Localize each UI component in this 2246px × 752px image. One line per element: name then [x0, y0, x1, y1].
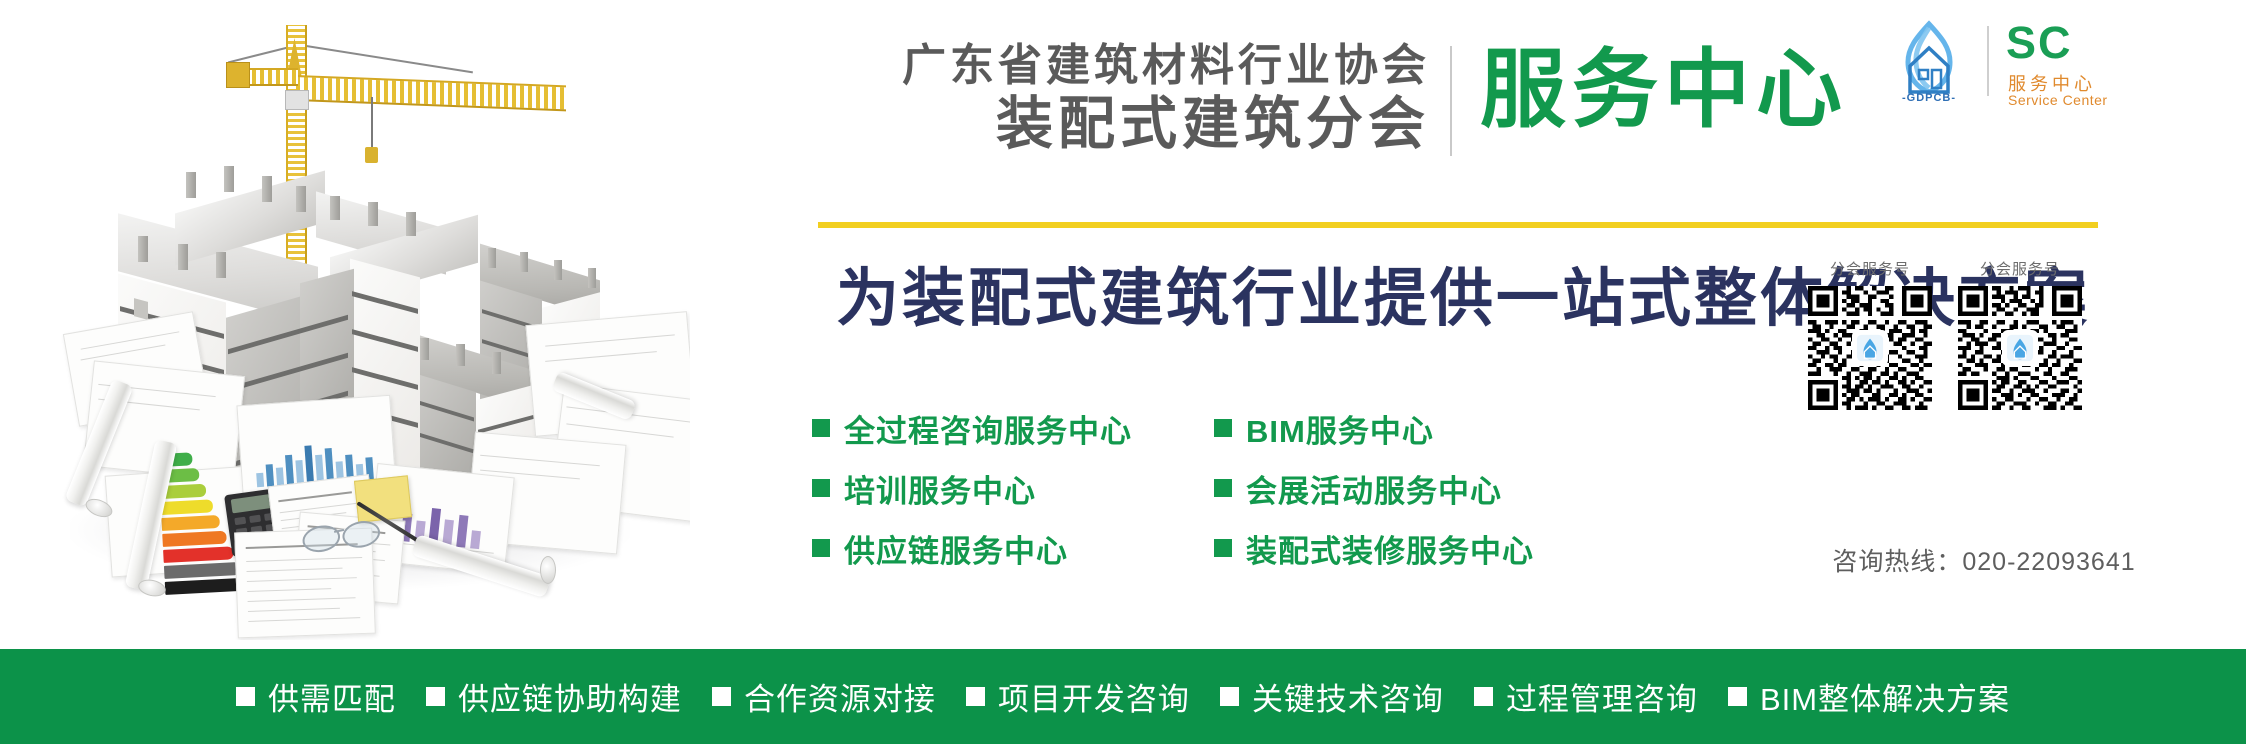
service-center-label: 装配式装修服务中心	[1246, 526, 1534, 571]
service-center-item[interactable]: 供应链服务中心	[812, 518, 1132, 578]
bottom-bar-item[interactable]: 项目开发咨询	[966, 674, 1190, 719]
service-center-label: 培训服务中心	[844, 466, 1036, 511]
square-bullet-icon	[812, 479, 830, 497]
service-center-item[interactable]: 会展活动服务中心	[1214, 458, 1534, 518]
service-center-label: 全过程咨询服务中心	[844, 406, 1132, 451]
bottom-bar-item[interactable]: 过程管理咨询	[1474, 674, 1698, 719]
qr-code-image-2[interactable]	[1958, 286, 2082, 410]
bottom-bar-item[interactable]: 关键技术咨询	[1220, 674, 1444, 719]
square-bullet-icon	[966, 687, 985, 706]
bottom-bar-item[interactable]: BIM整体解决方案	[1728, 674, 2010, 719]
bottom-bar-label: 合作资源对接	[744, 674, 936, 719]
service-center-column-left: 全过程咨询服务中心 培训服务中心 供应链服务中心	[812, 398, 1132, 578]
association-name: 广东省建筑材料行业协会	[820, 40, 1430, 92]
banner-content: 广东省建筑材料行业协会 装配式建筑分会 服务中心 为装配式建筑行业提供一站式整体…	[690, 0, 2246, 640]
hotline-text: 咨询热线：020-22093641	[1804, 542, 2164, 578]
crane-cabin	[285, 90, 309, 110]
service-center-item[interactable]: BIM服务中心	[1214, 398, 1534, 458]
logo-english-text: Service Center	[2008, 92, 2108, 108]
yellow-divider-rule	[818, 222, 2098, 228]
service-center-heading: 服务中心	[1480, 40, 1848, 141]
bottom-bar-item[interactable]: 合作资源对接	[712, 674, 936, 719]
crane-jib	[296, 75, 566, 111]
square-bullet-icon	[1220, 687, 1239, 706]
qr-code-block: 分会服务号	[1808, 258, 2148, 410]
service-center-item[interactable]: 培训服务中心	[812, 458, 1132, 518]
bottom-bar-label: 关键技术咨询	[1252, 674, 1444, 719]
association-title-block: 广东省建筑材料行业协会 装配式建筑分会	[820, 40, 1430, 157]
qr-embedded-logo-icon	[2002, 330, 2038, 366]
service-center-item[interactable]: 全过程咨询服务中心	[812, 398, 1132, 458]
service-center-label: 供应链服务中心	[844, 526, 1068, 571]
square-bullet-icon	[812, 539, 830, 557]
crane-counterweight	[226, 62, 250, 88]
square-bullet-icon	[236, 687, 255, 706]
bottom-bar-label: 项目开发咨询	[998, 674, 1190, 719]
promotional-banner: 广东省建筑材料行业协会 装配式建筑分会 服务中心 为装配式建筑行业提供一站式整体…	[0, 0, 2246, 752]
bottom-bar-item[interactable]: 供需匹配	[236, 674, 396, 719]
logo-divider	[1987, 26, 1989, 96]
square-bullet-icon	[712, 687, 731, 706]
qr-code-caption: 分会服务号	[1808, 258, 1932, 279]
square-bullet-icon	[812, 419, 830, 437]
bottom-bar-label: BIM整体解决方案	[1760, 674, 2010, 719]
square-bullet-icon	[1474, 687, 1493, 706]
brand-logo[interactable]: -GDPCB- SC 服务中心 Service Center	[1886, 14, 2146, 114]
qr-code-entry[interactable]: 分会服务号	[1958, 258, 2082, 410]
association-branch: 装配式建筑分会	[820, 92, 1430, 157]
square-bullet-icon	[426, 687, 445, 706]
qr-code-image-1[interactable]	[1808, 286, 1932, 410]
hero-construction-illustration	[0, 0, 690, 640]
bottom-bar-item[interactable]: 供应链协助构建	[426, 674, 682, 719]
square-bullet-icon	[1214, 539, 1232, 557]
square-bullet-icon	[1214, 419, 1232, 437]
service-center-item[interactable]: 装配式装修服务中心	[1214, 518, 1534, 578]
service-center-column-right: BIM服务中心 会展活动服务中心 装配式装修服务中心	[1214, 398, 1534, 578]
qr-code-caption: 分会服务号	[1958, 258, 2082, 279]
service-center-label: 会展活动服务中心	[1246, 466, 1502, 511]
logo-abbreviation: -GDPCB-	[1886, 92, 1972, 104]
title-divider	[1450, 46, 1452, 156]
bottom-bar-label: 供应链协助构建	[458, 674, 682, 719]
crane-hook	[365, 147, 378, 163]
qr-code-entry[interactable]: 分会服务号	[1808, 258, 1932, 410]
crane-tie-line	[300, 44, 473, 73]
bottom-bar-label: 过程管理咨询	[1506, 674, 1698, 719]
qr-embedded-logo-icon	[1852, 330, 1888, 366]
blueprint-roll-end	[540, 556, 556, 584]
logo-sc-text: SC	[2006, 20, 2073, 65]
bottom-bar-label: 供需匹配	[268, 674, 396, 719]
square-bullet-icon	[1728, 687, 1747, 706]
crane-cable	[371, 97, 373, 149]
bottom-services-bar: 供需匹配 供应链协助构建 合作资源对接 项目开发咨询 关键技术咨询 过程管理咨询	[0, 649, 2246, 744]
square-bullet-icon	[1214, 479, 1232, 497]
service-center-label: BIM服务中心	[1246, 406, 1434, 451]
